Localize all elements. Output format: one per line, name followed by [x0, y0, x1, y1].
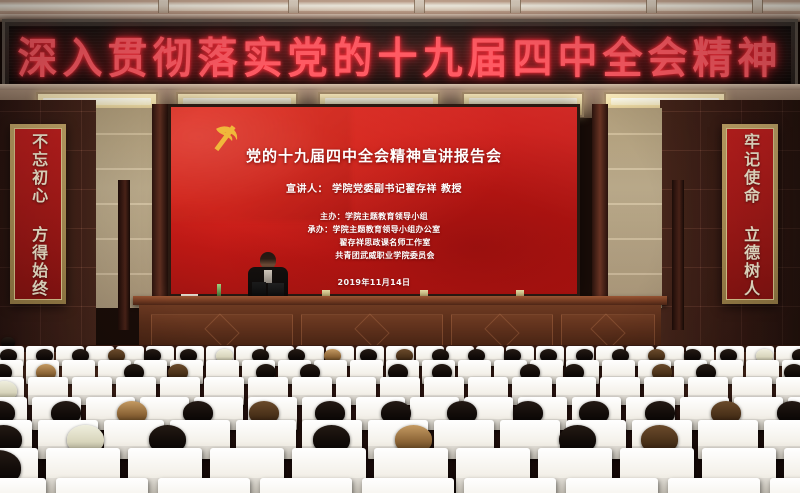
- left-banner-field: 不忘初心 方得始终: [14, 128, 62, 300]
- light-tube-separator: [158, 0, 169, 13]
- laptop: [268, 283, 284, 297]
- led-banner: 深入贯彻落实党的十九届四中全会精神: [2, 19, 798, 91]
- right-vertical-banner: 牢记使命 立德树人: [722, 124, 778, 304]
- left-wall-column: [118, 180, 130, 330]
- organizer-line: 主办：学院主题教育领导小组: [171, 211, 577, 224]
- table-diamond-inlay: [204, 313, 239, 348]
- right-beige-wall-panel: [600, 108, 662, 308]
- audience-chair: [668, 478, 760, 493]
- ceiling-light-strip: [0, 2, 800, 11]
- light-tube-separator: [414, 0, 425, 13]
- left-banner-text: 不忘初心 方得始终: [30, 133, 46, 298]
- audience-chair: [566, 478, 658, 493]
- screen-text-block: 党的十九届四中全会精神宣讲报告会 宣讲人： 学院党委副书记翟存祥 教授 主办：学…: [171, 145, 577, 288]
- screen-date: 2019年11月14日: [171, 277, 577, 288]
- screen-title: 党的十九届四中全会精神宣讲报告会: [171, 145, 577, 166]
- right-banner-text: 牢记使命 立德树人: [742, 133, 758, 298]
- right-pillar: [592, 104, 608, 319]
- laptop: [252, 282, 266, 297]
- audience-chair: [56, 478, 148, 493]
- screen-organizers: 主办：学院主题教育领导小组 承办：学院主题教育领导小组办公室 翟存祥思政课名师工…: [171, 211, 577, 263]
- left-pillar: [152, 104, 168, 319]
- conference-hall-photo: 深入贯彻落实党的十九届四中全会精神 不忘初心 方得始终 牢记使命 立德树人: [0, 0, 800, 493]
- light-tube-separator: [510, 0, 521, 13]
- table-panel: [151, 314, 293, 348]
- table-diamond-inlay: [590, 313, 625, 348]
- light-tube-separator: [288, 0, 299, 13]
- stage-table-top: [133, 296, 667, 305]
- table-diamond-inlay: [354, 313, 389, 348]
- light-tube-separator: [646, 0, 657, 13]
- table-diamond-inlay: [484, 313, 519, 348]
- right-banner-field: 牢记使命 立德树人: [726, 128, 774, 300]
- audience-chair: [158, 478, 250, 493]
- organizer-line: 翟存祥思政课名师工作室: [171, 237, 577, 250]
- left-vertical-banner: 不忘初心 方得始终: [10, 124, 66, 304]
- screen-speaker: 宣讲人： 学院党委副书记翟存祥 教授: [171, 180, 577, 195]
- soffit-rail: [0, 84, 800, 90]
- table-panel: [451, 314, 553, 348]
- audience-chair: [770, 478, 800, 493]
- led-banner-text: 深入贯彻落实党的十九届四中全会精神: [18, 24, 783, 85]
- audience-chair: [362, 478, 454, 493]
- table-panel: [561, 314, 655, 348]
- led-banner-screen: 深入贯彻落实党的十九届四中全会精神: [9, 26, 791, 84]
- organizer-line: 共青团武威职业学院委员会: [171, 250, 577, 263]
- audience-chair: [464, 478, 556, 493]
- audience-chair: [0, 478, 46, 493]
- right-wall-column: [672, 180, 684, 330]
- table-panel: [301, 314, 443, 348]
- organizer-line: 承办：学院主题教育领导小组办公室: [171, 224, 577, 237]
- projection-screen: 党的十九届四中全会精神宣讲报告会 宣讲人： 学院党委副书记翟存祥 教授 主办：学…: [168, 104, 580, 297]
- projection-screen-surface: 党的十九届四中全会精神宣讲报告会 宣讲人： 学院党委副书记翟存祥 教授 主办：学…: [171, 107, 577, 294]
- light-tube-separator: [752, 0, 763, 13]
- audience-chair: [260, 478, 352, 493]
